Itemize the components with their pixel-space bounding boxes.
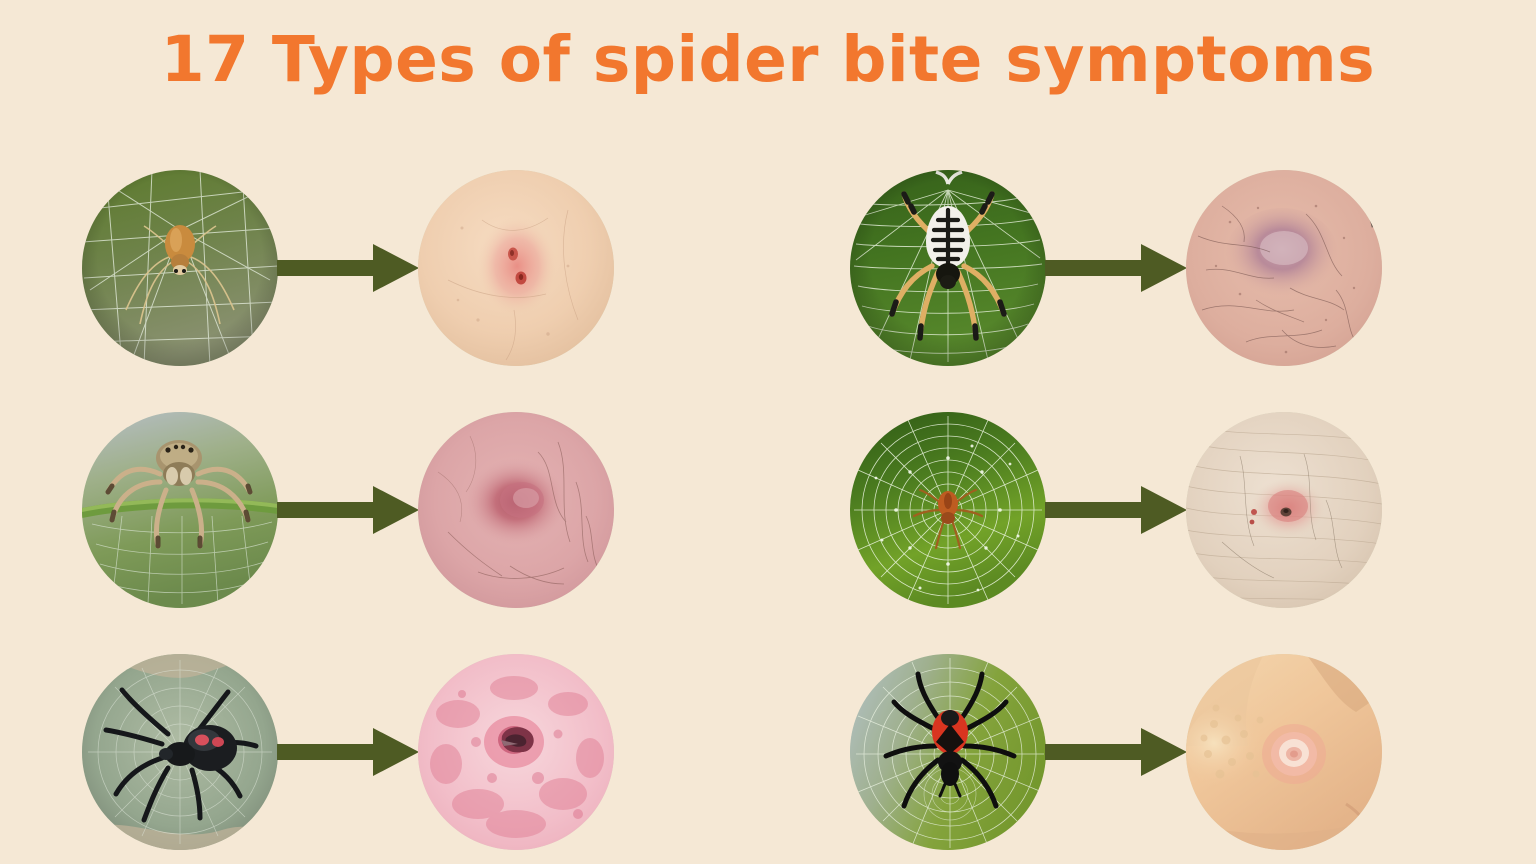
spider-photo-black-widow-red-spots-on-web[interactable] xyxy=(82,654,278,850)
arrow-right xyxy=(274,236,422,300)
title-bar: 17 Types of spider bite symptoms xyxy=(0,0,1536,118)
pair-row xyxy=(0,390,768,630)
page-title: 17 Types of spider bite symptoms xyxy=(161,28,1375,91)
bite-photo-two-puncture-marks-bite[interactable] xyxy=(418,170,614,366)
spider-photo-redback-widow-spider-on-web[interactable] xyxy=(850,654,1046,850)
bite-photo-blister-pustule-bite[interactable] xyxy=(1186,654,1382,850)
spider-photo-brown-orbweaver-on-web[interactable] xyxy=(82,170,278,366)
pair-row xyxy=(768,632,1536,864)
pair-row xyxy=(0,148,768,388)
spider-photo-orbweaver-centered-dewy-web[interactable] xyxy=(850,412,1046,608)
right-column xyxy=(768,118,1536,864)
spider-photo-garden-argiope-spider-on-web[interactable] xyxy=(850,170,1046,366)
bite-photo-small-red-bite-dark-center[interactable] xyxy=(1186,412,1382,608)
bite-photo-purple-bruised-swelling-bite[interactable] xyxy=(1186,170,1382,366)
left-column xyxy=(0,118,768,864)
arrow-right xyxy=(1042,478,1190,542)
pair-row xyxy=(768,390,1536,630)
pair-row xyxy=(768,148,1536,388)
infographic-board xyxy=(0,118,1536,864)
arrow-right xyxy=(1042,236,1190,300)
arrow-right xyxy=(274,720,422,784)
arrow-right xyxy=(1042,720,1190,784)
bite-photo-raised-red-welt-bite[interactable] xyxy=(418,412,614,608)
spider-photo-banded-legged-spider-on-stem[interactable] xyxy=(82,412,278,608)
arrow-right xyxy=(274,478,422,542)
bite-photo-necrotic-scab-rash-bite[interactable] xyxy=(418,654,614,850)
pair-row xyxy=(0,632,768,864)
